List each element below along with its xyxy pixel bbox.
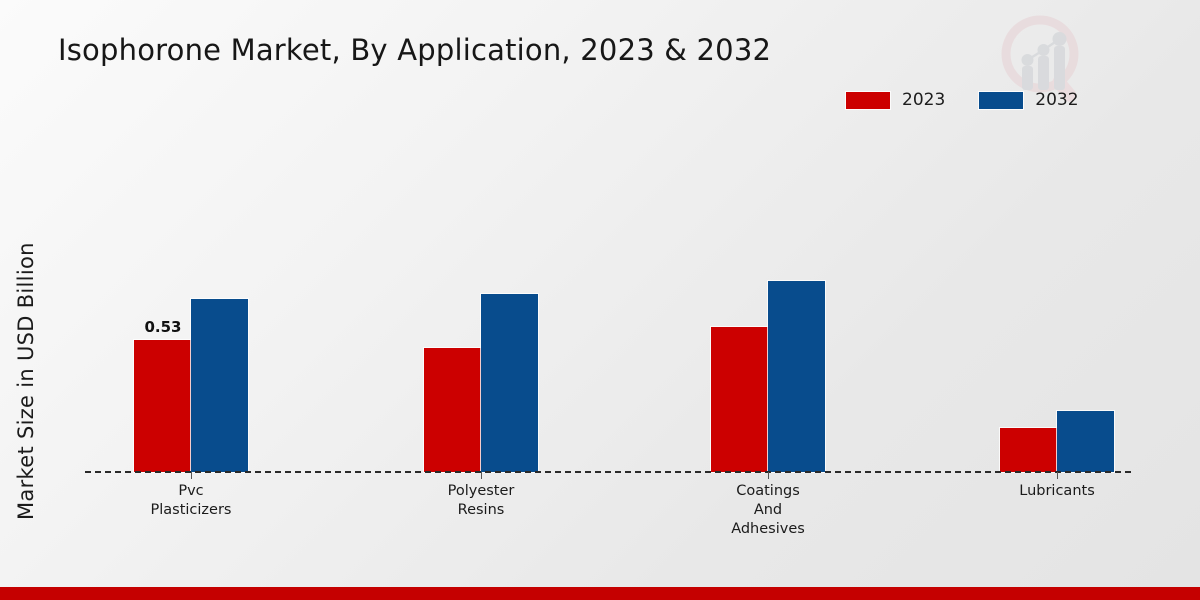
x-axis-label-lubricants: Lubricants bbox=[957, 482, 1157, 501]
bar-2023-coatings-and-adhesives[interactable] bbox=[711, 327, 768, 472]
x-axis-baseline bbox=[85, 471, 1131, 473]
bar-2032-pvc-plasticizers[interactable] bbox=[191, 299, 248, 472]
legend-label-2032: 2032 bbox=[1035, 92, 1078, 109]
legend-item-2032[interactable]: 2032 bbox=[979, 92, 1078, 109]
legend-label-2023: 2023 bbox=[902, 92, 945, 109]
legend-swatch-2032 bbox=[979, 92, 1023, 109]
chart-container: Isophorone Market, By Application, 2023 … bbox=[0, 0, 1200, 600]
bar-2023-polyester-resins[interactable] bbox=[424, 348, 481, 472]
x-axis-label-line: Pvc bbox=[91, 482, 291, 501]
x-axis-tick-coatings-and-adhesives bbox=[768, 472, 769, 479]
x-axis-tick-pvc-plasticizers bbox=[191, 472, 192, 479]
bar-2032-coatings-and-adhesives[interactable] bbox=[768, 281, 825, 472]
chart-legend: 2023 2032 bbox=[846, 92, 1079, 109]
plot-area: 0.53 bbox=[85, 140, 1130, 472]
bar-value-label-pvc-plasticizers: 0.53 bbox=[128, 318, 198, 336]
x-axis-label-coatings-and-adhesives: Coatings And Adhesives bbox=[668, 482, 868, 539]
x-axis-label-pvc-plasticizers: Pvc Plasticizers bbox=[91, 482, 291, 520]
x-axis-label-line: Coatings bbox=[668, 482, 868, 501]
chart-title: Isophorone Market, By Application, 2023 … bbox=[58, 33, 771, 67]
x-axis-tick-polyester-resins bbox=[481, 472, 482, 479]
x-axis-label-line: Resins bbox=[381, 501, 581, 520]
bar-2023-lubricants[interactable] bbox=[1000, 428, 1057, 472]
x-axis-label-line: Adhesives bbox=[668, 520, 868, 539]
legend-item-2023[interactable]: 2023 bbox=[846, 92, 945, 109]
y-axis-title: Market Size in USD Billion bbox=[14, 180, 44, 520]
footer-accent-bar bbox=[0, 587, 1200, 600]
bar-2032-lubricants[interactable] bbox=[1057, 411, 1114, 472]
x-axis-label-line: Lubricants bbox=[957, 482, 1157, 501]
bar-2032-polyester-resins[interactable] bbox=[481, 294, 538, 472]
x-axis-label-line: And bbox=[668, 501, 868, 520]
x-axis-label-line: Plasticizers bbox=[91, 501, 291, 520]
x-axis-label-line: Polyester bbox=[381, 482, 581, 501]
legend-swatch-2023 bbox=[846, 92, 890, 109]
x-axis-tick-lubricants bbox=[1057, 472, 1058, 479]
x-axis-label-polyester-resins: Polyester Resins bbox=[381, 482, 581, 520]
bar-2023-pvc-plasticizers[interactable] bbox=[134, 340, 191, 472]
